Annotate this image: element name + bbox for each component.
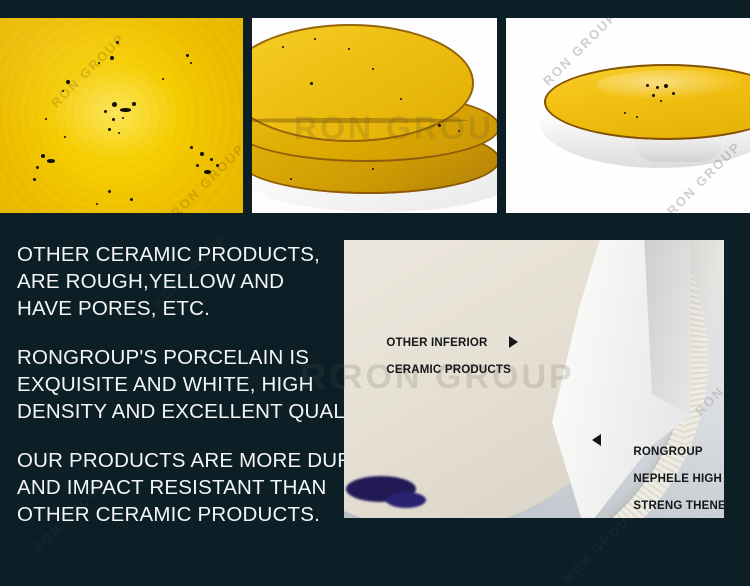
copy-paragraph: RONGROUP'S PORCELAIN IS EXQUISITE AND WH… <box>17 344 347 425</box>
annotation-other-inferior: OTHER INFERIOR CERAMIC PRODUCTS <box>366 323 511 391</box>
pore-speck <box>210 158 213 161</box>
pore-speck <box>112 118 115 121</box>
pore-speck <box>624 112 626 114</box>
copy-line: EXQUISITE AND WHITE, HIGH <box>17 373 314 396</box>
speck <box>438 124 441 127</box>
annotation-rongroup: RONGROUP NEPHELE HIGH STRENG THENED PORC… <box>613 432 724 518</box>
plate-foot <box>634 140 722 162</box>
pore-speck <box>190 62 192 64</box>
marketing-copy: OTHER CERAMIC PRODUCTS, ARE ROUGH,YELLOW… <box>17 241 347 528</box>
copy-paragraph: OUR PRODUCTS ARE MORE DURABLE AND IMPACT… <box>17 447 347 528</box>
pore-speck <box>672 92 675 95</box>
copy-paragraph: OTHER CERAMIC PRODUCTS, ARE ROUGH,YELLOW… <box>17 241 347 322</box>
pore-speck <box>36 166 39 169</box>
pore-speck <box>98 62 100 64</box>
pore-speck <box>118 132 120 134</box>
pore-speck <box>216 164 219 167</box>
pore-speck <box>120 108 131 112</box>
pore-speck <box>66 80 70 84</box>
pore-speck <box>96 203 98 205</box>
pore-speck <box>116 41 119 44</box>
pore-speck <box>196 164 199 167</box>
copy-line: OTHER CERAMIC PRODUCTS, <box>17 243 320 266</box>
copy-line: HAVE PORES, ETC. <box>17 297 210 320</box>
pore-speck <box>186 54 189 57</box>
pore-speck <box>130 198 133 201</box>
pore-speck <box>204 170 211 174</box>
pore-speck <box>110 56 114 60</box>
speck <box>372 68 374 70</box>
pore-speck <box>112 102 117 107</box>
speck <box>290 178 292 180</box>
copy-line: DENSITY AND EXCELLENT QUALITY. <box>17 400 381 423</box>
triangle-left-icon <box>592 434 601 446</box>
speck <box>310 82 313 85</box>
pore-speck <box>33 178 36 181</box>
pore-speck <box>62 90 64 92</box>
speck <box>348 48 350 50</box>
pore-speck <box>104 110 107 113</box>
pore-speck <box>652 94 655 97</box>
glaze-highlight <box>596 70 746 100</box>
annotation-line: RONGROUP <box>633 446 702 458</box>
annotation-line: NEPHELE HIGH <box>633 473 722 485</box>
comparison-photo-cross-section: RON GROUP RON GROUP OTHER INFERIOR CERAM… <box>344 240 724 518</box>
glaze-sheen <box>0 18 243 213</box>
annotation-line: STRENG THENED <box>633 500 724 512</box>
gallery-photo-yellow-plate-pores: RON GROUP RON GROUP <box>0 18 243 213</box>
pore-speck <box>108 128 111 131</box>
annotation-line: CERAMIC PRODUCTS <box>386 364 511 376</box>
pore-speck <box>200 152 204 156</box>
annotation-line: OTHER INFERIOR <box>386 337 487 349</box>
pore-speck <box>162 78 164 80</box>
speck <box>282 46 284 48</box>
pore-speck <box>190 146 193 149</box>
triangle-right-icon <box>509 336 518 348</box>
speck <box>372 168 374 170</box>
copy-line: RONGROUP'S PORCELAIN IS <box>17 346 309 369</box>
copy-line: ARE ROUGH,YELLOW AND <box>17 270 284 293</box>
gallery-photo-stacked-plates: RON GROUP <box>252 18 497 213</box>
pore-speck <box>47 159 55 163</box>
pore-speck <box>660 100 662 102</box>
pore-speck <box>636 116 638 118</box>
pore-speck <box>122 117 124 119</box>
copy-line: OTHER CERAMIC PRODUCTS. <box>17 503 320 526</box>
speck <box>314 38 316 40</box>
pore-speck <box>41 154 45 158</box>
pore-speck <box>646 84 649 87</box>
speck <box>400 98 402 100</box>
pore-speck <box>45 118 47 120</box>
pore-speck <box>656 86 659 89</box>
pore-speck <box>664 84 668 88</box>
pore-speck <box>108 190 111 193</box>
product-comparison-graphic: RON GROUP RON GROUP RON GROUP RON GROUP … <box>0 0 750 586</box>
speck <box>458 130 460 132</box>
copy-line: AND IMPACT RESISTANT THAN <box>17 476 327 499</box>
pore-speck <box>132 102 136 106</box>
pore-speck <box>64 136 66 138</box>
gallery-photo-side-view: RON GROUP RON GROUP <box>506 18 750 213</box>
